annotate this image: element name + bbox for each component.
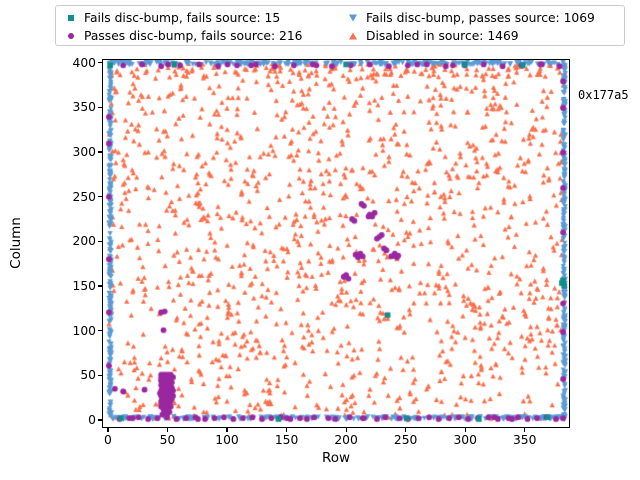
x-tick-mark [405,428,406,432]
x-tick-label: 300 [435,433,495,447]
x-tick-label: 0 [78,433,138,447]
y-tick-label: 400 [36,56,96,70]
legend-marker-square-icon [62,11,80,25]
y-tick-label: 50 [36,368,96,382]
x-tick-mark [167,428,168,432]
x-tick-label: 150 [257,433,317,447]
legend-marker-circle-icon [62,29,80,43]
legend-label-fails-disc-bump-fails-source: Fails disc-bump, fails source: 15 [84,11,280,25]
plot-annotation: 0x177a5 [578,88,629,102]
legend-label-disabled-in-source: Disabled in source: 1469 [366,29,519,43]
legend-marker-triangle-down-icon [344,11,362,25]
x-tick-mark [226,428,227,432]
y-tick-label: 350 [36,100,96,114]
x-tick-mark [524,428,525,432]
x-tick-label: 350 [495,433,555,447]
y-tick-label: 200 [36,234,96,248]
y-tick-label: 100 [36,324,96,338]
y-tick-label: 0 [36,413,96,427]
y-tick-label: 250 [36,190,96,204]
legend-marker-triangle-up-icon [344,29,362,43]
x-tick-label: 200 [316,433,376,447]
x-tick-label: 250 [376,433,436,447]
legend-label-fails-disc-bump-passes-source: Fails disc-bump, passes source: 1069 [366,11,595,25]
legend-entry-fails-disc-bump-passes-source: Fails disc-bump, passes source: 1069 [344,8,595,27]
legend-label-passes-disc-bump-fails-source: Passes disc-bump, fails source: 216 [84,29,303,43]
y-axis-label: Column [8,217,24,269]
x-tick-mark [346,428,347,432]
chart-legend: Fails disc-bump, fails source: 15 Passes… [55,5,625,46]
x-tick-mark [465,428,466,432]
x-axis-label: Row [322,450,350,466]
y-tick-label: 150 [36,279,96,293]
x-tick-mark [286,428,287,432]
y-tick-label: 300 [36,145,96,159]
x-tick-label: 50 [137,433,197,447]
legend-entry-fails-disc-bump-fails-source: Fails disc-bump, fails source: 15 [62,8,280,27]
scatter-canvas [103,60,569,427]
x-tick-label: 100 [197,433,257,447]
legend-entry-passes-disc-bump-fails-source: Passes disc-bump, fails source: 216 [62,26,303,45]
x-tick-mark [107,428,108,432]
plot-area [102,59,570,428]
matplotlib-figure: Fails disc-bump, fails source: 15 Passes… [0,0,640,480]
legend-entry-disabled-in-source: Disabled in source: 1469 [344,26,519,45]
